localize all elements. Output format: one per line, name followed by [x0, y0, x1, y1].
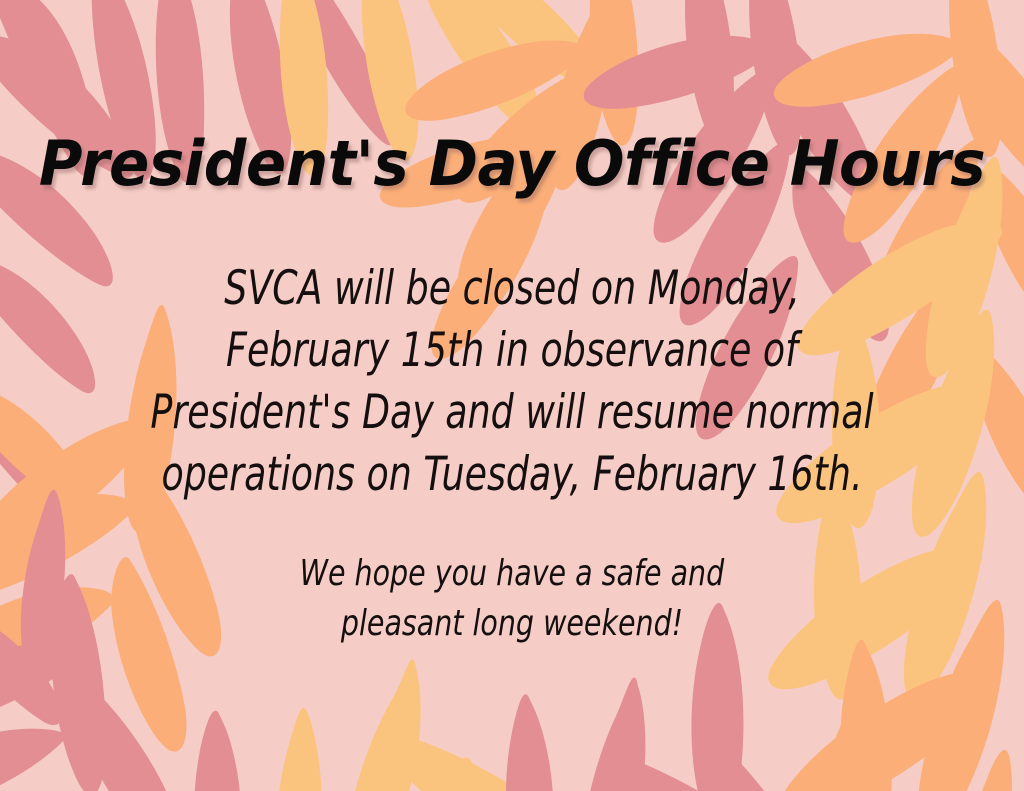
president-day-office-hours-poster: President's Day Office Hours SVCA will b…: [0, 0, 1024, 791]
decorative-foliage-background: [0, 0, 1024, 791]
